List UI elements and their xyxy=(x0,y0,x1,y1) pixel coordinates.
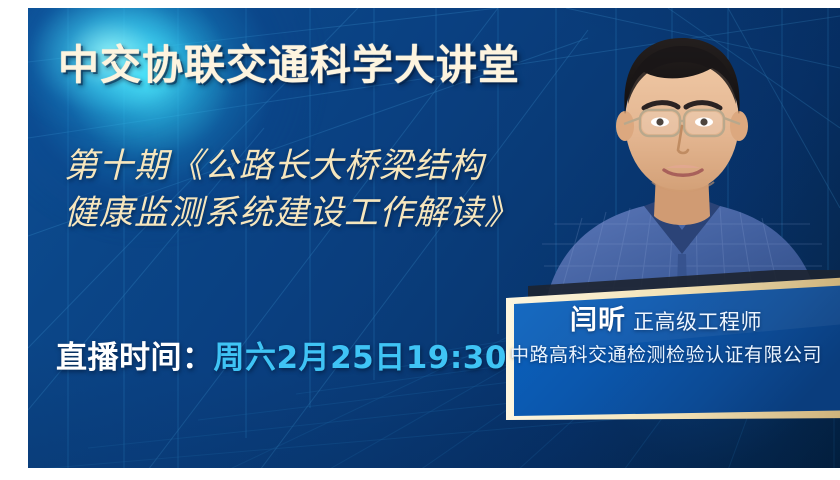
speaker-name-row: 闫昕正高级工程师 xyxy=(480,298,840,337)
session-title-line-2: 健康监测系统建设工作解读》 xyxy=(64,190,584,237)
session-title: 第十期《公路长大桥梁结构 健康监测系统建设工作解读》 xyxy=(64,143,584,237)
speaker-name: 闫昕 xyxy=(570,305,626,336)
session-title-line-1: 第十期《公路长大桥梁结构 xyxy=(64,143,584,190)
webinar-poster: 中交协联交通科学大讲堂 第十期《公路长大桥梁结构 健康监测系统建设工作解读》 直… xyxy=(28,8,840,468)
speaker-info-panel: 闫昕正高级工程师 中路高科交通检测检验认证有限公司 xyxy=(480,270,840,430)
page-title: 中交协联交通科学大讲堂 xyxy=(58,31,520,91)
speaker-job-title: 正高级工程师 xyxy=(633,310,762,334)
livestream-time: 直播时间：周六2月25日19:30 xyxy=(56,332,507,377)
livestream-time-label: 直播时间： xyxy=(56,340,214,376)
livestream-time-value: 周六2月25日19:30 xyxy=(214,340,507,376)
speaker-organization: 中路高科交通检测检验认证有限公司 xyxy=(480,340,840,367)
